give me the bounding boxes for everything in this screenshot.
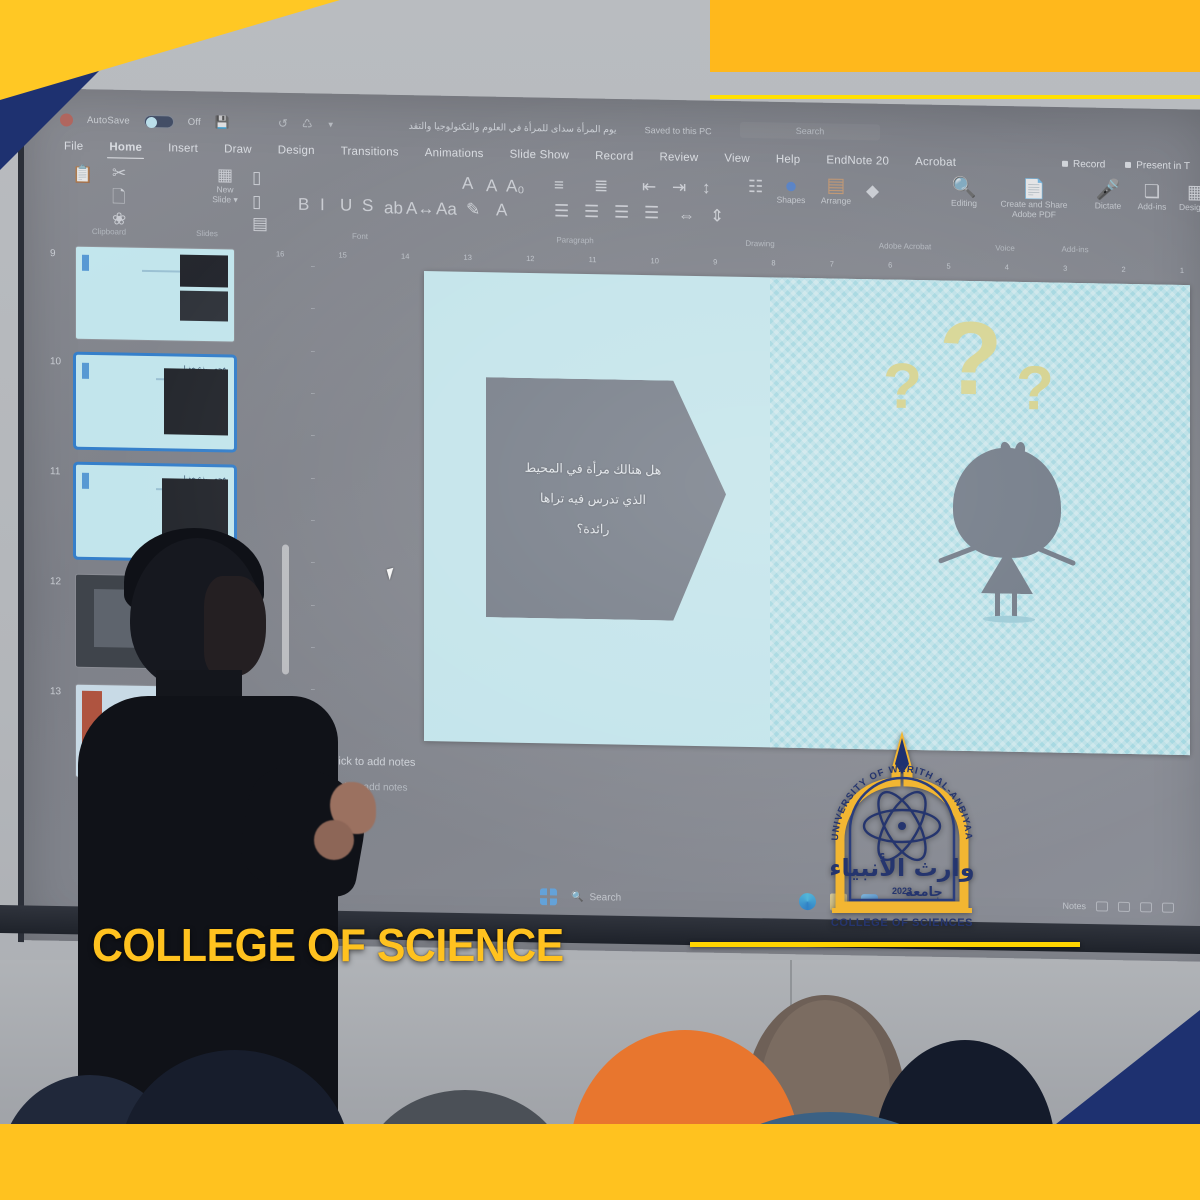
document-title: يوم المرأة سداى للمرأة في العلوم والتكنو… (409, 120, 617, 135)
text-direction-button[interactable]: ⇔ (678, 206, 695, 225)
top-right-yellow-line (710, 95, 1200, 99)
top-right-yellow-bar (710, 0, 1200, 72)
align-left-icon: ☰ (554, 201, 569, 220)
taskbar-tray: Notes (1062, 901, 1174, 913)
character-spacing-icon: A↔ (406, 199, 434, 219)
microphone-icon: 🎤 (1088, 181, 1128, 201)
thumbnail-slide-9[interactable]: 9 فحص بذع خفيا • (76, 247, 234, 342)
highlighter-icon: ✎ (466, 200, 480, 219)
italic-button[interactable]: I (320, 195, 325, 214)
logo-bottom-text: COLLEGE OF SCIENCES (831, 917, 973, 929)
decrease-font-size-button[interactable]: A (486, 176, 497, 195)
character-spacing-button[interactable]: A↔ (406, 199, 434, 219)
text-highlight-button[interactable]: ✎ (466, 200, 480, 219)
reset-icon: ▯ (252, 192, 261, 211)
editing-button[interactable]: 🔍 Editing (942, 179, 986, 209)
new-slide-button[interactable]: ▦ NewSlide ▾ (202, 165, 248, 205)
copy-icon: 🗋 (112, 187, 126, 206)
tab-record[interactable]: Record (593, 148, 635, 168)
thumbnail-slide-10[interactable]: 10 فحص بذع خفيا • (76, 355, 234, 450)
line-spacing-button[interactable]: ↕ (702, 178, 711, 197)
smartart-button[interactable]: ☷ (748, 177, 763, 196)
pentagon-text-shape[interactable]: هل هنالك مرأة في المحيط الذي تدرس فيه تر… (486, 377, 726, 621)
record-icon (1062, 161, 1068, 167)
tab-acrobat[interactable]: Acrobat (913, 154, 958, 174)
thinking-person-icon (927, 438, 1087, 626)
pentagon-line-2: الذي تدرس فيه تراها (498, 482, 688, 515)
tab-review[interactable]: Review (657, 149, 700, 169)
magnifier-icon: 🔍 (942, 179, 986, 199)
save-icon[interactable]: 💾 (215, 115, 230, 129)
university-logo: UNIVERSITY OF WARITH AL-ANBIYAA وارث الأ… (812, 730, 992, 930)
tab-slide-show[interactable]: Slide Show (508, 147, 572, 167)
addins-icon: ❏ (1132, 182, 1172, 202)
tray-notes-label: Notes (1062, 901, 1086, 911)
pentagon-line-3: رائدة؟ (498, 512, 688, 545)
group-label-slides: Slides (164, 228, 250, 239)
shadow-button[interactable]: S (362, 196, 373, 215)
reset-button[interactable]: ▯ (252, 192, 261, 211)
group-label-clipboard: Clipboard (54, 226, 164, 237)
pentagon-text: هل هنالك مرأة في المحيط الذي تدرس فيه تر… (498, 452, 688, 545)
logo-year: 2023 (892, 886, 912, 896)
thumbnail-number: 11 (50, 466, 60, 477)
format-painter-icon: ❀ (112, 209, 126, 228)
grow-font-icon: A (462, 174, 473, 193)
taskbar-search-placeholder: Search (589, 892, 621, 904)
text-shadow-icon: S (362, 196, 373, 215)
increase-indent-button[interactable]: ⇥ (672, 178, 686, 197)
question-mark-icon: ? (1016, 358, 1054, 421)
taskbar-search[interactable]: 🔍 Search (571, 891, 621, 903)
search-input[interactable]: Search (740, 122, 880, 141)
strikethrough-icon: ab (384, 198, 403, 217)
shapes-icon: ● (772, 175, 810, 195)
decrease-indent-button[interactable]: ⇤ (642, 177, 656, 196)
undo-icon[interactable]: ↺ (278, 116, 288, 130)
tab-view[interactable]: View (722, 151, 752, 171)
text-direction-icon: ⇔ (678, 206, 695, 225)
tray-icon[interactable] (1140, 902, 1152, 912)
clear-formatting-button[interactable]: A₀ (506, 177, 524, 196)
bold-icon: B (298, 195, 309, 214)
bullets-icon: ≡ (554, 175, 564, 194)
designer-icon: ▦ (1174, 183, 1200, 203)
autosave-state: Off (188, 116, 201, 127)
dictate-button[interactable]: 🎤 Dictate (1088, 181, 1128, 211)
increase-font-size-button[interactable]: A (462, 174, 473, 193)
pentagon-line-1: هل هنالك مرأة في المحيط (498, 452, 688, 485)
addins-button[interactable]: ❏ Add-ins (1132, 182, 1172, 212)
saved-state-label[interactable]: Saved to this PC (645, 125, 712, 136)
shapes-button[interactable]: ● Shapes (772, 175, 810, 205)
accent-bar (82, 473, 89, 489)
line-spacing-icon: ↕ (702, 178, 711, 197)
tray-icon[interactable] (1162, 903, 1174, 913)
justify-icon: ☰ (644, 203, 659, 222)
numbering-icon: ≣ (594, 176, 608, 195)
shrink-font-icon: A (486, 176, 497, 195)
underline-button[interactable]: U (340, 195, 352, 214)
tab-insert[interactable]: Insert (166, 140, 200, 160)
tray-icon[interactable] (1118, 902, 1130, 912)
copy-button[interactable]: 🗋 (112, 187, 126, 206)
question-mark-icon: ? (939, 306, 1003, 411)
change-case-icon: Aa (436, 199, 457, 218)
tray-icon[interactable] (1096, 901, 1108, 911)
group-label-addins: Add-ins (1040, 244, 1110, 254)
align-text-icon: ⇕ (710, 206, 724, 225)
question-marks-group: ? ? ? (853, 301, 1093, 445)
tab-transitions[interactable]: Transitions (339, 143, 401, 163)
tab-animations[interactable]: Animations (423, 145, 486, 165)
redo-icon[interactable]: ♺ (302, 117, 313, 131)
tab-draw[interactable]: Draw (222, 141, 254, 161)
align-center-button[interactable]: ☰ (584, 202, 599, 221)
font-color-button[interactable]: A (496, 200, 507, 219)
align-left-button[interactable]: ☰ (554, 201, 569, 220)
group-label-voice: Voice (970, 243, 1040, 253)
justify-button[interactable]: ☰ (644, 203, 659, 222)
arrange-button[interactable]: ▤ Arrange (816, 176, 856, 206)
align-text-button[interactable]: ⇕ (710, 206, 724, 225)
page-title: COLLEGE OF SCIENCE (92, 918, 564, 972)
font-color-icon: A (496, 200, 507, 219)
question-mark-icon: ? (883, 353, 922, 418)
tab-help[interactable]: Help (774, 151, 802, 171)
numbering-button[interactable]: ≣ (594, 176, 608, 195)
designer-button[interactable]: ▦ Designer (1174, 183, 1200, 213)
layout-button[interactable]: ▯ (252, 168, 261, 187)
present-in-teams-button[interactable]: Present in T (1125, 160, 1190, 172)
new-slide-icon: ▦ (202, 165, 248, 185)
bottom-yellow-bar (0, 1124, 1200, 1200)
thumbnail-number: 13 (50, 686, 61, 697)
search-icon: 🔍 (571, 891, 583, 902)
mouse-cursor (387, 568, 397, 580)
layout-icon: ▯ (252, 168, 261, 187)
bold-button[interactable]: B (298, 195, 309, 214)
slide-canvas[interactable]: هل هنالك مرأة في المحيط الذي تدرس فيه تر… (424, 271, 1190, 755)
chevron-down-icon[interactable]: ▼ (327, 120, 335, 129)
strikethrough-button[interactable]: ab (384, 198, 403, 217)
arrange-icon: ▤ (816, 176, 856, 196)
tab-design[interactable]: Design (276, 142, 317, 162)
clear-formatting-icon: A₀ (506, 177, 524, 196)
logo-arabic-line-1: وارث الأنبياء (829, 853, 974, 882)
italic-icon: I (320, 195, 325, 214)
adobe-pdf-icon: 📄 (988, 179, 1080, 200)
screenshot-stage: AutoSave Off 💾 ↺ ♺ ▼ يوم المرأة سداى للم… (0, 0, 1200, 1200)
record-button[interactable]: Record (1062, 159, 1105, 171)
smartart-icon: ☷ (748, 177, 763, 196)
change-case-button[interactable]: Aa (436, 199, 457, 218)
underline-icon: U (340, 195, 352, 214)
teams-icon (1125, 162, 1131, 168)
title-gold-rule (690, 942, 1080, 947)
align-right-icon: ☰ (614, 203, 629, 222)
tab-endnote[interactable]: EndNote 20 (824, 152, 891, 172)
increase-indent-icon: ⇥ (672, 178, 686, 197)
thumbnail-number: 12 (50, 576, 61, 587)
format-painter-button[interactable]: ❀ (112, 209, 126, 228)
thumbnail-number: 10 (50, 356, 61, 367)
accent-bar (82, 363, 89, 379)
accent-bar (82, 255, 89, 271)
decrease-indent-icon: ⇤ (642, 177, 656, 196)
create-share-pdf-button[interactable]: 📄 Create and ShareAdobe PDF (988, 179, 1080, 220)
quick-styles-button[interactable]: ◆ (866, 181, 879, 200)
quick-styles-icon: ◆ (866, 181, 879, 200)
presence-actions: Record Present in T (1062, 159, 1190, 172)
align-center-icon: ☰ (584, 202, 599, 221)
thumbnail-number: 9 (50, 248, 56, 259)
group-label-acrobat: Adobe Acrobat (840, 241, 970, 252)
bullets-button[interactable]: ≡ (554, 175, 564, 194)
align-right-button[interactable]: ☰ (614, 203, 629, 222)
corner-triangle-yellow-topleft (0, 0, 340, 100)
group-label-drawing: Drawing (680, 238, 840, 250)
start-icon[interactable] (540, 888, 557, 905)
